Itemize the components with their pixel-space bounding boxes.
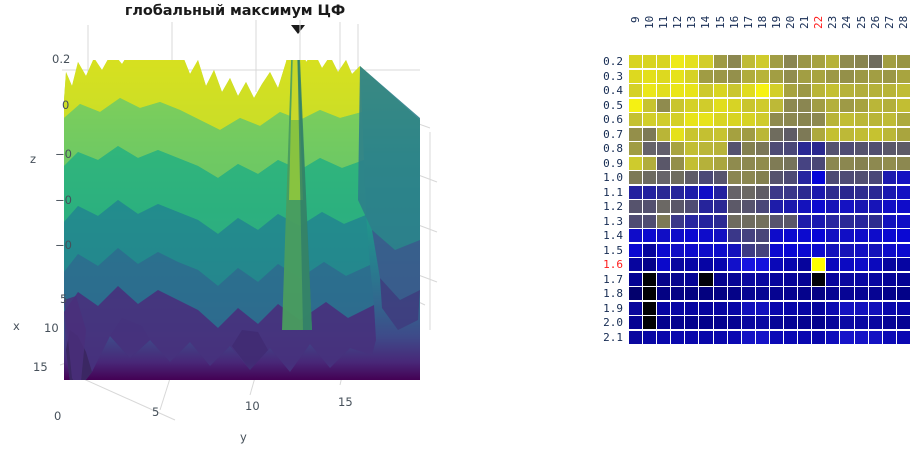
- heatmap-cell[interactable]: [756, 302, 769, 315]
- heatmap-cell[interactable]: [728, 273, 741, 286]
- heatmap-cell[interactable]: [826, 55, 839, 68]
- heatmap-cell[interactable]: [657, 142, 670, 155]
- heatmap-cell[interactable]: [714, 186, 727, 199]
- heatmap-cell[interactable]: [629, 258, 642, 271]
- heatmap-cell[interactable]: [699, 142, 712, 155]
- heatmap-cell[interactable]: [699, 229, 712, 242]
- heatmap-cell[interactable]: [883, 244, 896, 257]
- heatmap-cell[interactable]: [742, 84, 755, 97]
- heatmap-cell[interactable]: [840, 70, 853, 83]
- heatmap-cell[interactable]: [756, 113, 769, 126]
- heatmap-cell[interactable]: [643, 128, 656, 141]
- heatmap-cell[interactable]: [699, 70, 712, 83]
- heatmap-cell[interactable]: [883, 287, 896, 300]
- heatmap-cell[interactable]: [855, 128, 868, 141]
- heatmap-cell[interactable]: [883, 273, 896, 286]
- heatmap-cell[interactable]: [699, 55, 712, 68]
- heatmap-cell[interactable]: [714, 84, 727, 97]
- heatmap-cell[interactable]: [742, 302, 755, 315]
- heatmap-cell[interactable]: [643, 331, 656, 344]
- heatmap-cell[interactable]: [714, 128, 727, 141]
- heatmap-cell[interactable]: [897, 171, 910, 184]
- heatmap-cell[interactable]: [671, 302, 684, 315]
- heatmap-cell[interactable]: [897, 273, 910, 286]
- heatmap-cell[interactable]: [699, 200, 712, 213]
- heatmap-cell[interactable]: [840, 287, 853, 300]
- heatmap-cell[interactable]: [770, 186, 783, 199]
- heatmap-cell[interactable]: [756, 258, 769, 271]
- heatmap-cell[interactable]: [699, 157, 712, 170]
- heatmap-cell[interactable]: [812, 84, 825, 97]
- heatmap-cell[interactable]: [629, 215, 642, 228]
- heatmap-cell[interactable]: [742, 55, 755, 68]
- heatmap-cell[interactable]: [629, 331, 642, 344]
- heatmap-cell[interactable]: [657, 113, 670, 126]
- heatmap-cell[interactable]: [671, 273, 684, 286]
- heatmap-cell[interactable]: [812, 142, 825, 155]
- heatmap-cell[interactable]: [742, 70, 755, 83]
- heatmap-cell[interactable]: [826, 258, 839, 271]
- heatmap-cell[interactable]: [629, 273, 642, 286]
- heatmap-cell[interactable]: [685, 99, 698, 112]
- heatmap-cell[interactable]: [756, 99, 769, 112]
- heatmap-cell[interactable]: [714, 215, 727, 228]
- heatmap-cell[interactable]: [629, 157, 642, 170]
- heatmap-cell[interactable]: [897, 331, 910, 344]
- heatmap-cell[interactable]: [699, 258, 712, 271]
- heatmap-cell[interactable]: [784, 258, 797, 271]
- heatmap-cell[interactable]: [869, 128, 882, 141]
- heatmap-cell[interactable]: [756, 171, 769, 184]
- heatmap-cell[interactable]: [629, 70, 642, 83]
- heatmap-cell[interactable]: [883, 157, 896, 170]
- heatmap-cell[interactable]: [756, 70, 769, 83]
- heatmap-cell[interactable]: [826, 200, 839, 213]
- heatmap-cell[interactable]: [756, 316, 769, 329]
- heatmap-cell[interactable]: [798, 157, 811, 170]
- heatmap-cell[interactable]: [897, 157, 910, 170]
- heatmap-cell[interactable]: [714, 258, 727, 271]
- heatmap-cell[interactable]: [643, 70, 656, 83]
- heatmap-cell[interactable]: [869, 229, 882, 242]
- heatmap-cell[interactable]: [643, 171, 656, 184]
- heatmap-cell[interactable]: [657, 171, 670, 184]
- heatmap-cell[interactable]: [869, 186, 882, 199]
- heatmap-cell[interactable]: [840, 316, 853, 329]
- heatmap-cell[interactable]: [869, 113, 882, 126]
- heatmap-cell[interactable]: [728, 215, 741, 228]
- heatmap-cell[interactable]: [671, 331, 684, 344]
- heatmap-cell[interactable]: [728, 55, 741, 68]
- heatmap-cell[interactable]: [657, 316, 670, 329]
- heatmap-cell[interactable]: [812, 186, 825, 199]
- heatmap-cell[interactable]: [770, 128, 783, 141]
- heatmap-cell-highlight[interactable]: [812, 258, 825, 271]
- heatmap-cell[interactable]: [657, 70, 670, 83]
- heatmap-cell[interactable]: [897, 70, 910, 83]
- heatmap-cell[interactable]: [869, 200, 882, 213]
- heatmap-cell[interactable]: [728, 113, 741, 126]
- heatmap-cell[interactable]: [756, 331, 769, 344]
- heatmap-cell[interactable]: [643, 55, 656, 68]
- heatmap-cell[interactable]: [869, 215, 882, 228]
- heatmap-cell[interactable]: [840, 200, 853, 213]
- heatmap-cell[interactable]: [897, 99, 910, 112]
- heatmap-cell[interactable]: [784, 70, 797, 83]
- heatmap-cell[interactable]: [671, 316, 684, 329]
- heatmap-cell[interactable]: [855, 215, 868, 228]
- heatmap-cell[interactable]: [629, 287, 642, 300]
- heatmap-cell[interactable]: [714, 287, 727, 300]
- heatmap-cell[interactable]: [897, 84, 910, 97]
- heatmap-cell[interactable]: [685, 84, 698, 97]
- heatmap-cell[interactable]: [840, 84, 853, 97]
- heatmap-cell[interactable]: [699, 215, 712, 228]
- heatmap-cell[interactable]: [728, 186, 741, 199]
- heatmap-cell[interactable]: [897, 186, 910, 199]
- heatmap-cell[interactable]: [742, 273, 755, 286]
- heatmap-cell[interactable]: [629, 142, 642, 155]
- heatmap-cell[interactable]: [728, 287, 741, 300]
- heatmap-cell[interactable]: [657, 84, 670, 97]
- heatmap-cell[interactable]: [671, 84, 684, 97]
- heatmap-cell[interactable]: [728, 302, 741, 315]
- heatmap-cell[interactable]: [657, 244, 670, 257]
- heatmap-cell[interactable]: [883, 215, 896, 228]
- heatmap-cell[interactable]: [643, 157, 656, 170]
- heatmap-cell[interactable]: [798, 258, 811, 271]
- heatmap-cell[interactable]: [840, 99, 853, 112]
- heatmap-cell[interactable]: [897, 128, 910, 141]
- heatmap-cell[interactable]: [714, 331, 727, 344]
- heatmap-cell[interactable]: [714, 200, 727, 213]
- heatmap-cell[interactable]: [756, 128, 769, 141]
- heatmap-cell[interactable]: [869, 142, 882, 155]
- heatmap-cell[interactable]: [883, 55, 896, 68]
- heatmap-cell[interactable]: [685, 215, 698, 228]
- heatmap-cell[interactable]: [869, 302, 882, 315]
- heatmap-cell[interactable]: [897, 55, 910, 68]
- heatmap-cell[interactable]: [855, 244, 868, 257]
- heatmap-cell[interactable]: [855, 142, 868, 155]
- heatmap-cell[interactable]: [699, 331, 712, 344]
- heatmap-cell[interactable]: [826, 70, 839, 83]
- heatmap-cell[interactable]: [629, 316, 642, 329]
- heatmap-cell[interactable]: [643, 215, 656, 228]
- heatmap-cell[interactable]: [869, 258, 882, 271]
- heatmap-cell[interactable]: [685, 287, 698, 300]
- heatmap-cell[interactable]: [812, 55, 825, 68]
- heatmap-cell[interactable]: [897, 316, 910, 329]
- heatmap-cell[interactable]: [855, 200, 868, 213]
- heatmap-cell[interactable]: [784, 215, 797, 228]
- heatmap-cell[interactable]: [812, 287, 825, 300]
- heatmap-cell[interactable]: [812, 200, 825, 213]
- heatmap-cell[interactable]: [784, 157, 797, 170]
- heatmap-cell[interactable]: [728, 157, 741, 170]
- heatmap-cell[interactable]: [629, 186, 642, 199]
- heatmap-cell[interactable]: [685, 157, 698, 170]
- heatmap-cell[interactable]: [770, 142, 783, 155]
- heatmap-cell[interactable]: [756, 186, 769, 199]
- heatmap-cell[interactable]: [756, 287, 769, 300]
- heatmap-cell[interactable]: [685, 244, 698, 257]
- heatmap-cell[interactable]: [840, 113, 853, 126]
- heatmap-cell[interactable]: [897, 142, 910, 155]
- heatmap-cell[interactable]: [812, 244, 825, 257]
- heatmap-cell[interactable]: [897, 229, 910, 242]
- heatmap-cell[interactable]: [742, 244, 755, 257]
- heatmap-cell[interactable]: [657, 331, 670, 344]
- heatmap-cell[interactable]: [643, 186, 656, 199]
- heatmap-cell[interactable]: [685, 142, 698, 155]
- heatmap-cell[interactable]: [657, 128, 670, 141]
- heatmap-cell[interactable]: [699, 186, 712, 199]
- heatmap-cell[interactable]: [826, 302, 839, 315]
- heatmap-cell[interactable]: [742, 157, 755, 170]
- heatmap-cell[interactable]: [756, 200, 769, 213]
- heatmap-cell[interactable]: [897, 258, 910, 271]
- heatmap-cell[interactable]: [770, 99, 783, 112]
- heatmap-cell[interactable]: [869, 171, 882, 184]
- heatmap-cell[interactable]: [826, 316, 839, 329]
- heatmap-cell[interactable]: [643, 84, 656, 97]
- heatmap-cell[interactable]: [798, 273, 811, 286]
- heatmap-cell[interactable]: [883, 186, 896, 199]
- heatmap-cell[interactable]: [742, 99, 755, 112]
- heatmap-cell[interactable]: [714, 142, 727, 155]
- heatmap-cell[interactable]: [883, 302, 896, 315]
- heatmap-cell[interactable]: [643, 316, 656, 329]
- heatmap-cell[interactable]: [812, 331, 825, 344]
- heatmap-cell[interactable]: [840, 186, 853, 199]
- heatmap-cell[interactable]: [784, 331, 797, 344]
- heatmap-cell[interactable]: [883, 70, 896, 83]
- heatmap-cell[interactable]: [784, 128, 797, 141]
- heatmap-cell[interactable]: [855, 70, 868, 83]
- heatmap-cell[interactable]: [784, 302, 797, 315]
- heatmap-cell[interactable]: [699, 273, 712, 286]
- heatmap-cell[interactable]: [798, 128, 811, 141]
- heatmap-cell[interactable]: [699, 99, 712, 112]
- heatmap-cell[interactable]: [840, 55, 853, 68]
- heatmap-cell[interactable]: [883, 200, 896, 213]
- heatmap-cell[interactable]: [742, 186, 755, 199]
- heatmap-cell[interactable]: [770, 200, 783, 213]
- heatmap-cell[interactable]: [714, 55, 727, 68]
- heatmap-cell[interactable]: [685, 200, 698, 213]
- heatmap-cell[interactable]: [629, 84, 642, 97]
- heatmap-cell[interactable]: [855, 331, 868, 344]
- heatmap-cell[interactable]: [770, 273, 783, 286]
- heatmap-cell[interactable]: [643, 287, 656, 300]
- heatmap-cell[interactable]: [657, 157, 670, 170]
- heatmap-cell[interactable]: [671, 258, 684, 271]
- heatmap-cell[interactable]: [657, 55, 670, 68]
- heatmap-cell[interactable]: [629, 128, 642, 141]
- heatmap-cell[interactable]: [657, 186, 670, 199]
- heatmap-cell[interactable]: [714, 273, 727, 286]
- heatmap-cell[interactable]: [784, 200, 797, 213]
- heatmap-cell[interactable]: [714, 99, 727, 112]
- heatmap-cell[interactable]: [840, 244, 853, 257]
- heatmap-cell[interactable]: [770, 55, 783, 68]
- heatmap-cell[interactable]: [869, 273, 882, 286]
- heatmap-cell[interactable]: [643, 99, 656, 112]
- heatmap-cell[interactable]: [840, 128, 853, 141]
- heatmap-cell[interactable]: [869, 157, 882, 170]
- heatmap-cell[interactable]: [840, 229, 853, 242]
- heatmap-cell[interactable]: [883, 84, 896, 97]
- heatmap-cell[interactable]: [770, 258, 783, 271]
- heatmap-cell[interactable]: [714, 171, 727, 184]
- heatmap-cell[interactable]: [840, 215, 853, 228]
- heatmap-cell[interactable]: [826, 229, 839, 242]
- heatmap-cell[interactable]: [671, 55, 684, 68]
- heatmap-cell[interactable]: [643, 200, 656, 213]
- heatmap-cell[interactable]: [728, 316, 741, 329]
- heatmap-cell[interactable]: [812, 229, 825, 242]
- heatmap-cell[interactable]: [657, 302, 670, 315]
- heatmap-cell[interactable]: [826, 171, 839, 184]
- heatmap-cell[interactable]: [784, 142, 797, 155]
- heatmap-cell[interactable]: [770, 287, 783, 300]
- heatmap-cell[interactable]: [840, 157, 853, 170]
- heatmap-cell[interactable]: [714, 70, 727, 83]
- heatmap-cell[interactable]: [629, 229, 642, 242]
- heatmap-cell[interactable]: [869, 316, 882, 329]
- heatmap-cell[interactable]: [826, 244, 839, 257]
- heatmap-cell[interactable]: [798, 55, 811, 68]
- heatmap-cell[interactable]: [685, 258, 698, 271]
- heatmap-cell[interactable]: [685, 331, 698, 344]
- heatmap-cell[interactable]: [671, 113, 684, 126]
- heatmap-cell[interactable]: [798, 229, 811, 242]
- heatmap-cell[interactable]: [798, 84, 811, 97]
- heatmap-cell[interactable]: [855, 55, 868, 68]
- heatmap-cell[interactable]: [643, 302, 656, 315]
- heatmap-cell[interactable]: [643, 273, 656, 286]
- heatmap-cell[interactable]: [671, 186, 684, 199]
- heatmap-cell[interactable]: [798, 215, 811, 228]
- heatmap-cell[interactable]: [657, 287, 670, 300]
- heatmap-cell[interactable]: [728, 244, 741, 257]
- heatmap-cell[interactable]: [770, 70, 783, 83]
- heatmap-cell[interactable]: [643, 113, 656, 126]
- heatmap-cell[interactable]: [671, 287, 684, 300]
- heatmap-cell[interactable]: [826, 99, 839, 112]
- heatmap-cell[interactable]: [685, 55, 698, 68]
- heatmap-cell[interactable]: [671, 157, 684, 170]
- heatmap-cell[interactable]: [714, 302, 727, 315]
- heatmap-cell[interactable]: [840, 273, 853, 286]
- heatmap-cell[interactable]: [883, 142, 896, 155]
- heatmap-cell[interactable]: [798, 70, 811, 83]
- heatmap-cell[interactable]: [714, 316, 727, 329]
- heatmap-cell[interactable]: [657, 215, 670, 228]
- heatmap-cell[interactable]: [728, 84, 741, 97]
- heatmap-cell[interactable]: [742, 128, 755, 141]
- heatmap-cell[interactable]: [855, 157, 868, 170]
- heatmap-cell[interactable]: [742, 113, 755, 126]
- heatmap-cell[interactable]: [826, 113, 839, 126]
- heatmap-cell[interactable]: [699, 171, 712, 184]
- heatmap-cell[interactable]: [770, 157, 783, 170]
- heatmap-cell[interactable]: [770, 302, 783, 315]
- heatmap-cell[interactable]: [897, 215, 910, 228]
- heatmap-cell[interactable]: [812, 302, 825, 315]
- heatmap-cell[interactable]: [643, 142, 656, 155]
- heatmap-cell[interactable]: [756, 55, 769, 68]
- heatmap-cell[interactable]: [685, 70, 698, 83]
- heatmap-cell[interactable]: [869, 331, 882, 344]
- heatmap-cell[interactable]: [812, 113, 825, 126]
- heatmap-cell[interactable]: [784, 229, 797, 242]
- heatmap-cell[interactable]: [869, 287, 882, 300]
- heatmap-cell[interactable]: [728, 229, 741, 242]
- heatmap-cell[interactable]: [855, 186, 868, 199]
- heatmap-cell[interactable]: [756, 244, 769, 257]
- heatmap-cell[interactable]: [784, 113, 797, 126]
- heatmap-cell[interactable]: [826, 287, 839, 300]
- heatmap-cell[interactable]: [629, 302, 642, 315]
- heatmap-cell[interactable]: [742, 316, 755, 329]
- heatmap-cell[interactable]: [798, 171, 811, 184]
- heatmap-cell[interactable]: [714, 229, 727, 242]
- heatmap-cell[interactable]: [685, 186, 698, 199]
- heatmap-cell[interactable]: [685, 273, 698, 286]
- heatmap-cell[interactable]: [784, 84, 797, 97]
- heatmap-cell[interactable]: [869, 99, 882, 112]
- heatmap-cell[interactable]: [812, 273, 825, 286]
- heatmap-cell[interactable]: [826, 142, 839, 155]
- heatmap-cell[interactable]: [770, 215, 783, 228]
- heatmap-cell[interactable]: [784, 287, 797, 300]
- heatmap-cell[interactable]: [728, 128, 741, 141]
- heatmap-cell[interactable]: [897, 302, 910, 315]
- heatmap-cell[interactable]: [629, 171, 642, 184]
- heatmap-cell[interactable]: [657, 229, 670, 242]
- heatmap-cell[interactable]: [756, 157, 769, 170]
- heatmap-cell[interactable]: [770, 84, 783, 97]
- heatmap-cell[interactable]: [671, 171, 684, 184]
- heatmap-cell[interactable]: [756, 215, 769, 228]
- heatmap-cell[interactable]: [840, 171, 853, 184]
- heatmap-cell[interactable]: [657, 258, 670, 271]
- heatmap-cell[interactable]: [883, 258, 896, 271]
- heatmap-cell[interactable]: [855, 302, 868, 315]
- heatmap-cell[interactable]: [812, 171, 825, 184]
- heatmap-cell[interactable]: [883, 128, 896, 141]
- heatmap-cell[interactable]: [855, 287, 868, 300]
- heatmap-cell[interactable]: [826, 215, 839, 228]
- heatmap-cell[interactable]: [685, 316, 698, 329]
- heatmap-cell[interactable]: [742, 258, 755, 271]
- heatmap-cell[interactable]: [629, 55, 642, 68]
- heatmap-cell[interactable]: [742, 229, 755, 242]
- heatmap-cell[interactable]: [714, 244, 727, 257]
- heatmap-cell[interactable]: [826, 331, 839, 344]
- heatmap-cell[interactable]: [643, 244, 656, 257]
- heatmap-cell[interactable]: [685, 113, 698, 126]
- heatmap-cell[interactable]: [784, 99, 797, 112]
- heatmap-cell[interactable]: [671, 142, 684, 155]
- heatmap-cell[interactable]: [629, 99, 642, 112]
- heatmap-cell[interactable]: [728, 70, 741, 83]
- heatmap-cell[interactable]: [728, 258, 741, 271]
- heatmap-cell[interactable]: [629, 200, 642, 213]
- heatmap-cell[interactable]: [883, 171, 896, 184]
